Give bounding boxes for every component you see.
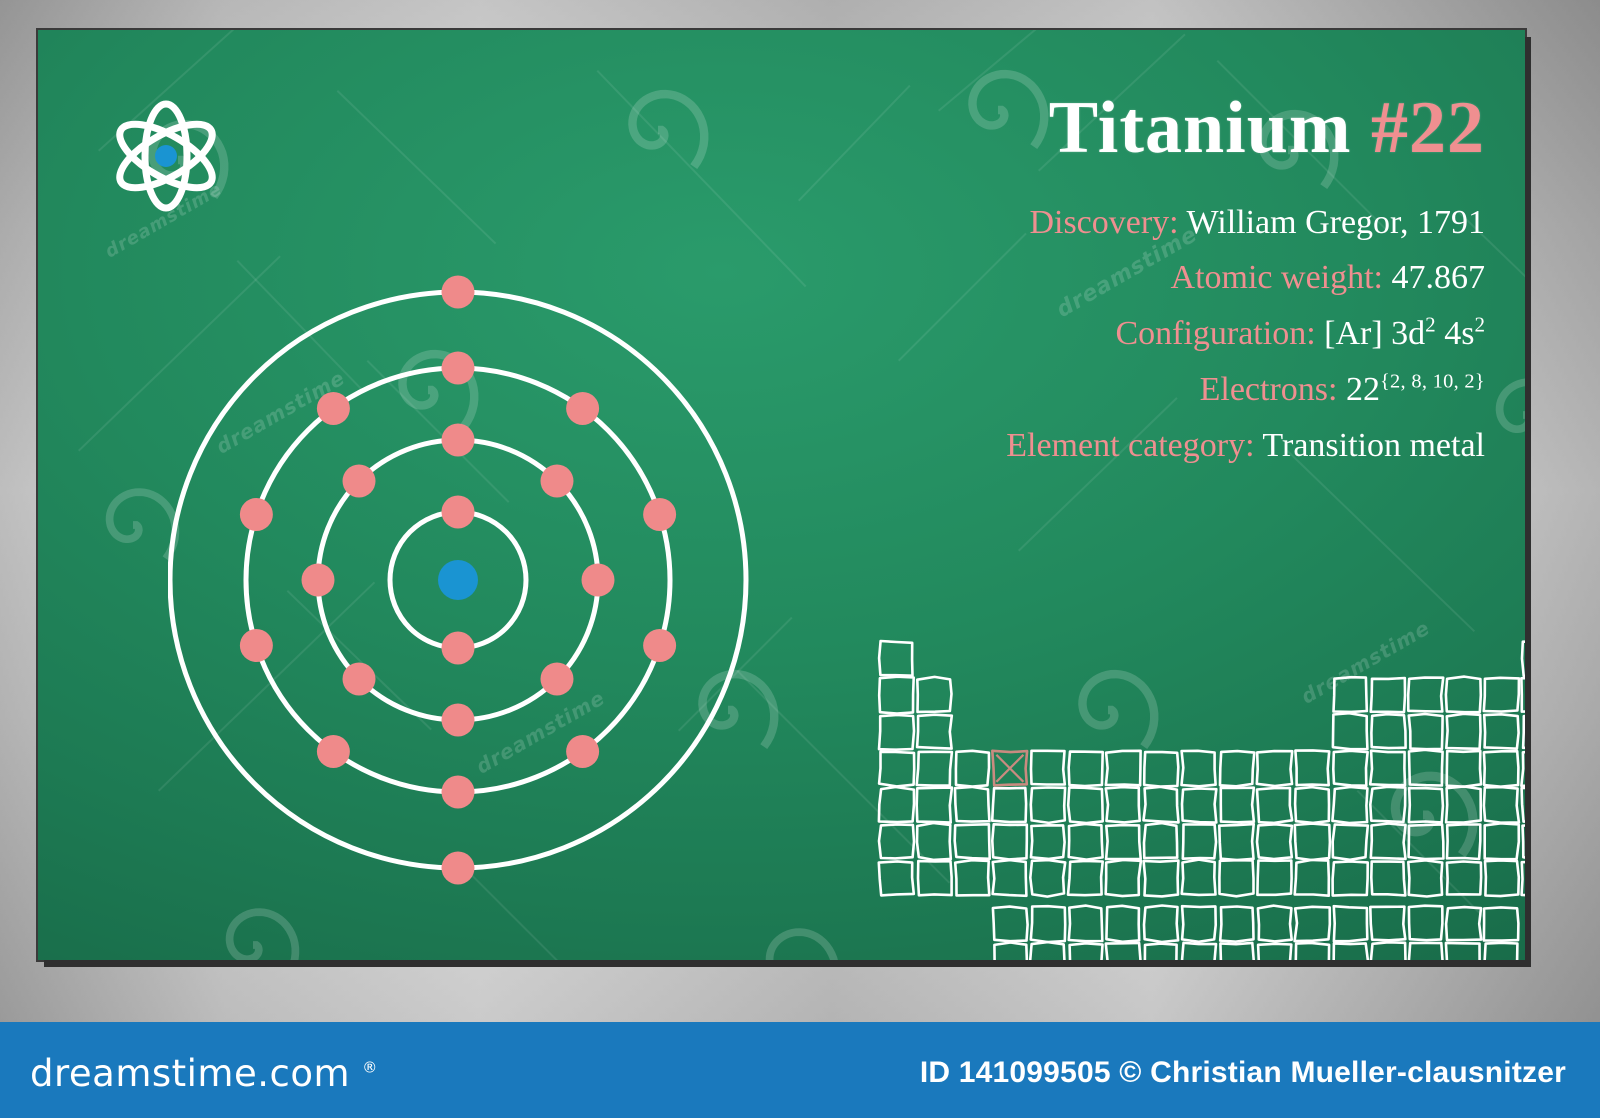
atom-icon <box>108 98 224 214</box>
periodic-cell <box>1295 860 1329 896</box>
periodic-cell <box>1257 861 1291 895</box>
periodic-cell <box>1031 906 1065 942</box>
periodic-cell <box>1069 824 1103 860</box>
periodic-cell <box>1144 861 1179 897</box>
periodic-cell <box>1409 788 1443 822</box>
periodic-cell <box>917 752 952 786</box>
periodic-cell <box>1484 678 1519 712</box>
periodic-cell <box>1106 751 1141 786</box>
periodic-cell <box>1485 861 1519 897</box>
electron-dot <box>240 498 273 531</box>
periodic-cell <box>879 824 914 858</box>
info-row-configuration: Configuration: [Ar] 3d2 4s2 <box>705 307 1485 361</box>
info-row-atomic-weight: Atomic weight: 47.867 <box>705 251 1485 305</box>
periodic-cell <box>1030 860 1065 897</box>
dreamstime-logo[interactable]: dreamstime.com ® <box>30 1052 378 1095</box>
periodic-cell <box>1106 943 1141 960</box>
periodic-cell <box>1484 907 1519 940</box>
periodic-cell <box>1219 860 1253 896</box>
periodic-cell <box>992 824 1027 859</box>
periodic-cell <box>1447 862 1481 895</box>
periodic-cell <box>1447 825 1480 860</box>
periodic-cell <box>1446 714 1480 749</box>
electron-dot <box>582 564 615 597</box>
periodic-cell <box>1221 788 1254 823</box>
periodic-cell <box>1333 713 1368 749</box>
electron-dot <box>643 498 676 531</box>
electron-dot <box>442 496 475 529</box>
periodic-cell <box>1030 942 1065 960</box>
electrons-total: 22 <box>1346 371 1380 408</box>
periodic-cell <box>1521 752 1525 786</box>
configuration-label: Configuration: <box>1115 315 1315 352</box>
periodic-cell <box>1523 714 1525 748</box>
periodic-cell <box>1220 751 1254 786</box>
periodic-cell <box>879 641 912 676</box>
chalkboard: dreamstimedreamstimedreamstimedreamstime… <box>38 30 1525 960</box>
image-credit: ID 141099505 © Christian Mueller-clausni… <box>920 1056 1566 1090</box>
periodic-cell <box>1031 751 1065 785</box>
electron-dot <box>540 465 573 498</box>
periodic-cell <box>1144 752 1178 787</box>
periodic-cell <box>1106 860 1141 896</box>
electron-dot <box>442 704 475 737</box>
periodic-cell <box>1182 789 1216 823</box>
periodic-cell <box>1485 823 1519 859</box>
periodic-cell <box>1295 787 1329 823</box>
periodic-cell <box>1182 943 1216 960</box>
periodic-cell <box>1446 787 1481 823</box>
electron-dot <box>442 352 475 385</box>
info-row-electrons: Electrons: 22{2, 8, 10, 2} <box>705 363 1485 417</box>
periodic-cell <box>1371 862 1405 896</box>
electron-dot <box>343 465 376 498</box>
periodic-cell <box>1484 751 1519 787</box>
config-orbital-3d: 3d2 <box>1391 315 1436 352</box>
periodic-cell <box>1485 943 1518 960</box>
highlight-x-marker <box>996 755 1023 782</box>
periodic-cell <box>1144 823 1177 858</box>
element-info-panel: Titanium #22 Discovery: William Gregor, … <box>705 90 1485 472</box>
periodic-cell <box>1333 862 1368 896</box>
periodic-cell <box>1371 942 1406 960</box>
periodic-cell <box>1371 824 1406 859</box>
periodic-cell <box>917 823 951 860</box>
electron-dot <box>566 735 599 768</box>
periodic-cell <box>1334 906 1368 941</box>
periodic-cell <box>1522 641 1525 676</box>
chalkboard-frame: dreamstimedreamstimedreamstimedreamstime… <box>0 0 1600 1022</box>
periodic-cell <box>1182 906 1216 942</box>
element-name: Titanium <box>1049 87 1352 169</box>
discovery-label: Discovery: <box>1029 204 1178 241</box>
periodic-cell <box>1219 824 1253 860</box>
periodic-cell <box>1257 824 1292 859</box>
periodic-cell <box>917 677 951 712</box>
periodic-cell <box>1182 751 1216 787</box>
periodic-cell <box>879 861 914 895</box>
electron-dot <box>442 776 475 809</box>
atomic-weight-value: 47.867 <box>1392 259 1486 296</box>
periodic-cell <box>1333 751 1367 786</box>
periodic-cell <box>1106 825 1141 859</box>
periodic-cell <box>1334 943 1368 960</box>
config-core: [Ar] <box>1324 315 1383 352</box>
periodic-cell <box>1521 678 1525 712</box>
periodic-cell <box>1068 861 1103 895</box>
periodic-cell <box>1409 750 1443 786</box>
periodic-cell <box>1295 824 1330 860</box>
periodic-cell <box>994 943 1028 961</box>
periodic-cell <box>955 860 989 895</box>
periodic-cell <box>1334 677 1367 712</box>
electron-dot <box>566 392 599 425</box>
periodic-cell <box>879 677 914 714</box>
periodic-cell <box>917 788 952 823</box>
periodic-cell <box>992 788 1026 822</box>
periodic-cell <box>879 715 914 750</box>
periodic-cell <box>1333 825 1368 860</box>
periodic-cell <box>1409 906 1443 941</box>
electron-dot <box>302 564 335 597</box>
periodic-cell <box>1446 677 1481 713</box>
periodic-cell <box>1069 943 1102 960</box>
periodic-cell <box>918 861 952 895</box>
periodic-cell <box>993 907 1028 942</box>
periodic-cell <box>879 787 914 822</box>
electron-dot <box>442 424 475 457</box>
config-orbital-4s: 4s2 <box>1444 315 1485 352</box>
discovery-value: William Gregor, 1791 <box>1187 204 1485 241</box>
periodic-cell <box>993 860 1027 896</box>
electron-shell-distribution: {2, 8, 10, 2} <box>1380 371 1485 393</box>
electron-dot <box>540 662 573 695</box>
info-row-category: Element category: Transition metal <box>705 419 1485 473</box>
electron-dot <box>442 632 475 665</box>
periodic-cell <box>1295 750 1329 785</box>
periodic-cell <box>1371 678 1405 712</box>
periodic-cell <box>1183 824 1216 858</box>
periodic-cell <box>1371 714 1405 748</box>
periodic-cell <box>1031 788 1065 823</box>
periodic-cell <box>1408 678 1443 712</box>
periodic-cell <box>1257 944 1291 960</box>
periodic-cell <box>1522 787 1525 822</box>
periodic-cell <box>1220 943 1253 960</box>
periodic-cell <box>1257 751 1292 786</box>
periodic-cell <box>1484 787 1519 823</box>
stock-footer-bar: dreamstime.com ® ID 141099505 © Christia… <box>0 1022 1600 1118</box>
electron-dot <box>442 852 475 885</box>
atomic-weight-label: Atomic weight: <box>1171 259 1383 296</box>
periodic-cell <box>955 824 990 859</box>
electron-dot <box>343 662 376 695</box>
periodic-cell <box>1522 861 1525 896</box>
periodic-cell <box>1447 751 1481 787</box>
periodic-cell <box>1409 714 1443 749</box>
electron-dot <box>317 735 350 768</box>
periodic-cell <box>879 752 914 787</box>
periodic-cell <box>1220 907 1253 942</box>
registered-mark: ® <box>362 1059 378 1077</box>
category-label: Element category: <box>1006 427 1254 464</box>
electron-dot <box>317 392 350 425</box>
electron-dot <box>442 276 475 309</box>
info-row-discovery: Discovery: William Gregor, 1791 <box>705 196 1485 250</box>
periodic-cell <box>955 787 989 822</box>
periodic-cell <box>1409 824 1444 859</box>
electron-dot <box>643 629 676 662</box>
periodic-cell <box>1106 787 1140 822</box>
nucleus <box>438 560 478 600</box>
periodic-cell <box>1295 907 1330 941</box>
atomic-number: #22 <box>1371 87 1485 169</box>
periodic-table-minimap <box>876 638 1525 960</box>
periodic-cell <box>1144 787 1179 823</box>
dreamstime-logo-text: dreamstime.com <box>30 1052 350 1095</box>
periodic-cell <box>1409 943 1443 960</box>
configuration-value: [Ar] 3d2 4s2 <box>1324 315 1485 352</box>
periodic-cell <box>1144 906 1178 943</box>
periodic-cell <box>1031 825 1065 859</box>
periodic-cell <box>1106 906 1139 942</box>
electrons-label: Electrons: <box>1200 371 1338 408</box>
periodic-cell <box>1370 907 1405 941</box>
periodic-cell <box>1484 714 1518 748</box>
periodic-cell <box>917 715 952 749</box>
periodic-cell <box>1446 943 1480 960</box>
periodic-cell <box>1258 906 1292 942</box>
periodic-cell <box>1370 787 1405 822</box>
periodic-cell <box>1408 860 1442 896</box>
periodic-cell <box>1068 787 1103 823</box>
periodic-cell <box>1182 860 1216 895</box>
electron-dot <box>240 629 273 662</box>
bohr-model-diagram <box>168 220 768 900</box>
periodic-cell <box>1069 752 1103 786</box>
periodic-cell <box>1145 944 1178 960</box>
periodic-cell <box>1296 943 1329 960</box>
category-value: Transition metal <box>1262 427 1485 464</box>
periodic-cell <box>1446 907 1481 940</box>
periodic-cell <box>956 751 989 787</box>
page-title: Titanium #22 <box>705 90 1485 168</box>
periodic-cell <box>1523 824 1526 860</box>
periodic-cell <box>1370 751 1405 786</box>
periodic-cell <box>1332 787 1367 823</box>
periodic-cell <box>1069 906 1103 942</box>
periodic-cell <box>1257 788 1292 823</box>
